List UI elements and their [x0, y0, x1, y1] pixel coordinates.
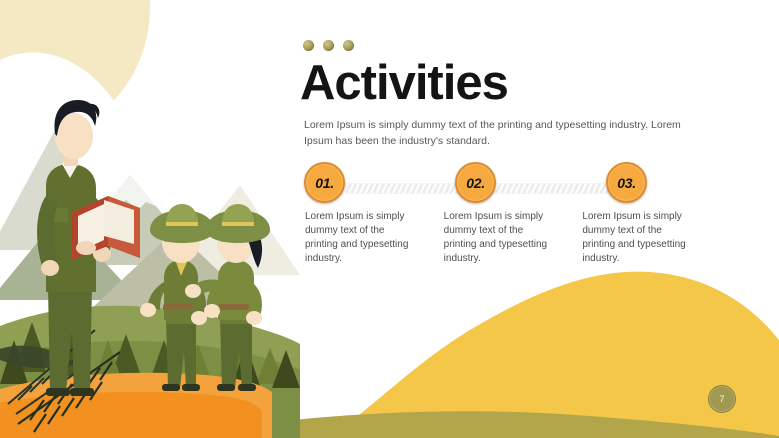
- step-descriptions: Lorem Ipsum is simply dummy text of the …: [300, 210, 720, 266]
- page-number-badge: 7: [708, 385, 736, 413]
- step-badges-row: 01. 02. 03.: [300, 162, 700, 208]
- decor-dot-icon: [323, 40, 334, 51]
- step-body-2: Lorem Ipsum is simply dummy text of the …: [444, 210, 556, 266]
- step-column-2: Lorem Ipsum is simply dummy text of the …: [444, 210, 582, 266]
- scout-illustration: [0, 0, 300, 438]
- step-badge-01[interactable]: 01.: [304, 162, 345, 203]
- slide: Activities Lorem Ipsum is simply dummy t…: [0, 0, 779, 438]
- step-body-1: Lorem Ipsum is simply dummy text of the …: [305, 210, 417, 266]
- step-column-1: Lorem Ipsum is simply dummy text of the …: [305, 210, 443, 266]
- decor-dot-icon: [303, 40, 314, 51]
- decor-dot-icon: [343, 40, 354, 51]
- step-badge-03[interactable]: 03.: [606, 162, 647, 203]
- page-subtitle: Lorem Ipsum is simply dummy text of the …: [304, 118, 704, 149]
- content-area: Activities Lorem Ipsum is simply dummy t…: [300, 0, 779, 438]
- step-column-3: Lorem Ipsum is simply dummy text of the …: [582, 210, 720, 266]
- page-title: Activities: [300, 57, 508, 109]
- decor-dots: [303, 40, 354, 51]
- step-body-3: Lorem Ipsum is simply dummy text of the …: [582, 210, 694, 266]
- step-badge-02[interactable]: 02.: [455, 162, 496, 203]
